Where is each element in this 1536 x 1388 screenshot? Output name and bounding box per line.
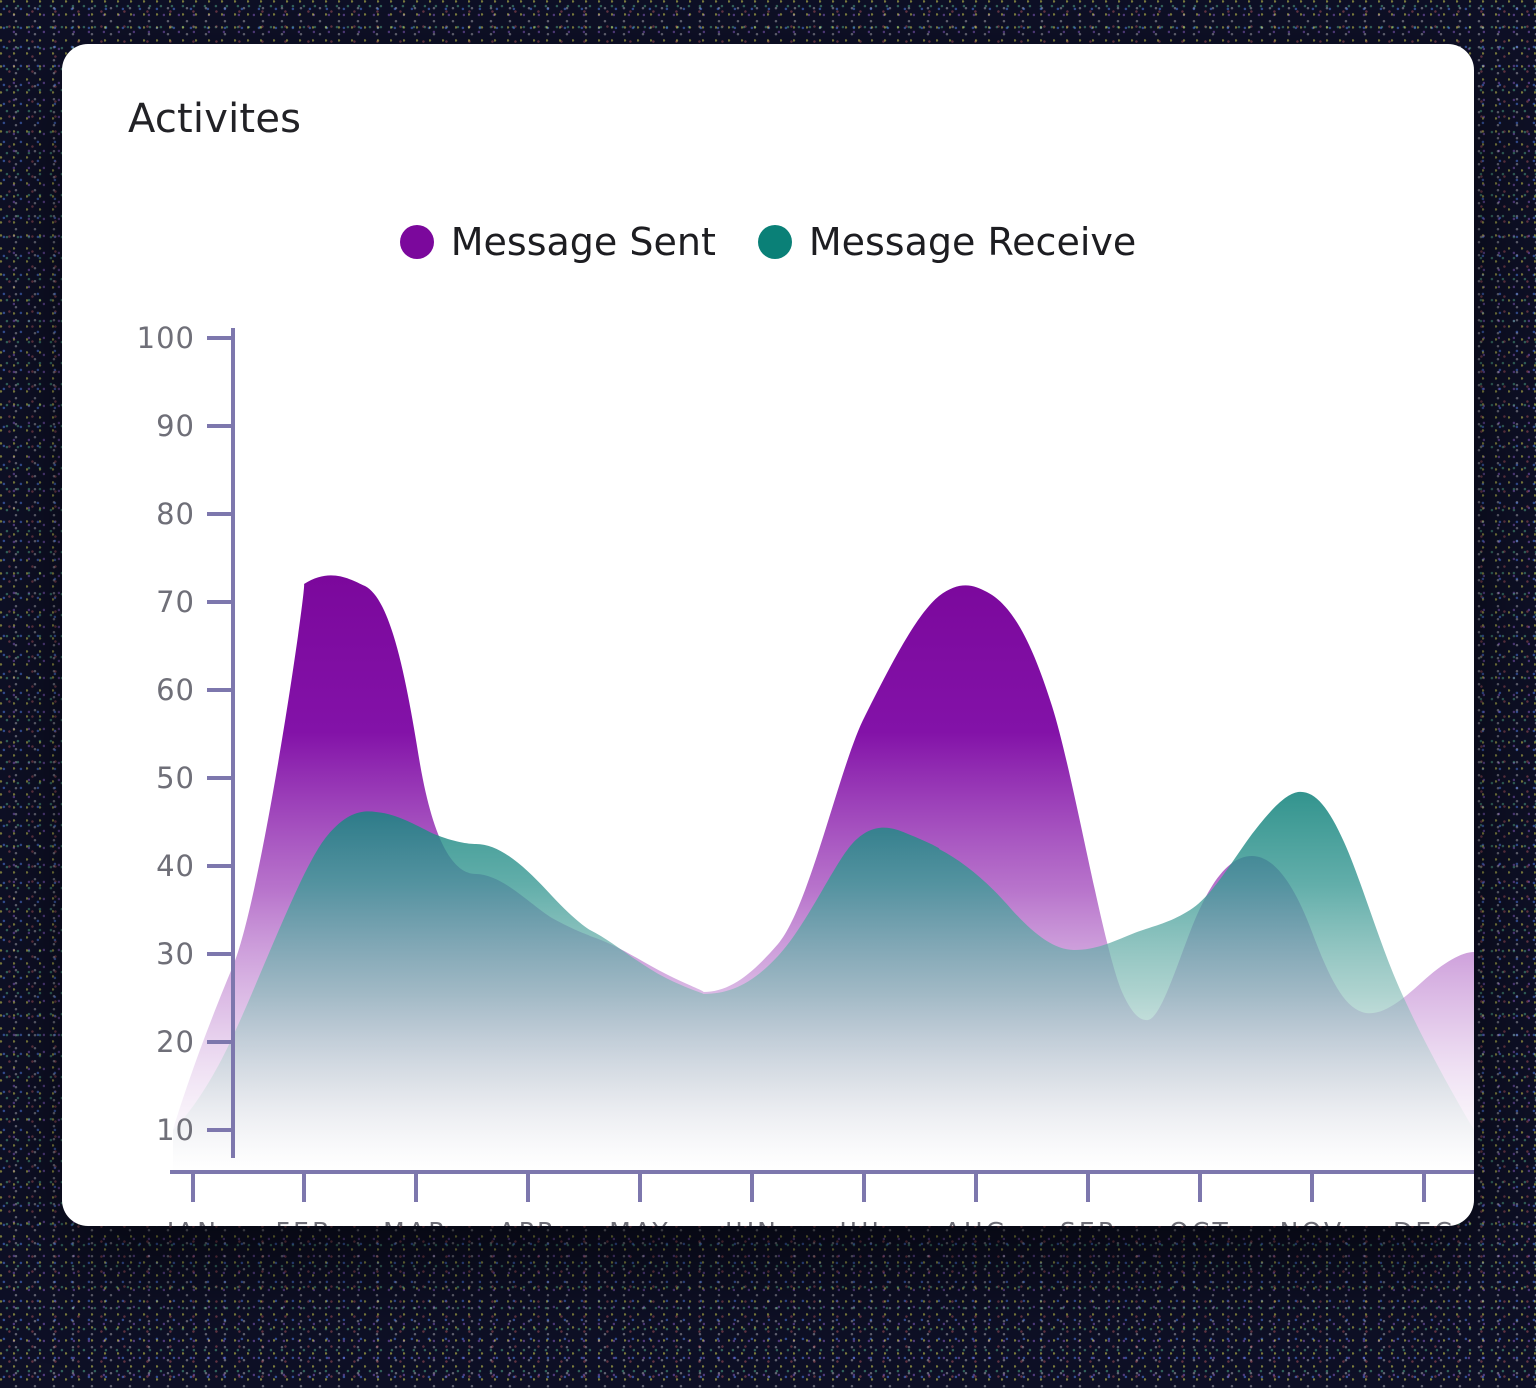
y-tick-label: 40 — [156, 849, 195, 883]
x-tick-label: DEC — [1393, 1217, 1455, 1226]
x-tick-label: MAY — [609, 1217, 671, 1226]
y-tick-label: 50 — [156, 761, 195, 795]
x-tick-label: AUG — [944, 1217, 1008, 1226]
x-tick-label: MAR — [383, 1217, 449, 1226]
y-tick-label: 80 — [156, 497, 195, 531]
activities-chart-card: Activites Message Sent Message Receive — [62, 44, 1474, 1226]
y-tick-label: 30 — [156, 937, 195, 971]
y-tick-label: 90 — [156, 409, 195, 443]
chart-areas — [173, 575, 1474, 1179]
x-tick-label: SEP — [1060, 1217, 1116, 1226]
x-tick-label: OCT — [1169, 1217, 1231, 1226]
y-tick-label: 70 — [156, 585, 195, 619]
y-tick-label: 60 — [156, 673, 195, 707]
y-tick-label: 10 — [156, 1113, 195, 1147]
x-tick-label: JUL — [837, 1217, 888, 1226]
x-axis-tick-labels: JAN FEB MAR APR MAY JUN JUL AUG SEP OCT … — [165, 1217, 1455, 1226]
x-tick-label: JAN — [165, 1217, 219, 1226]
x-tick-label: FEB — [276, 1217, 333, 1226]
y-tick-label: 20 — [156, 1025, 195, 1059]
x-tick-label: NOV — [1280, 1217, 1345, 1226]
x-tick-label: APR — [498, 1217, 557, 1226]
x-tick-label: JUN — [723, 1217, 779, 1226]
area-chart-plot: 100 90 80 70 60 50 40 30 20 10 — [62, 44, 1474, 1226]
y-tick-label: 100 — [137, 321, 195, 355]
y-axis-tick-labels: 100 90 80 70 60 50 40 30 20 10 — [137, 321, 195, 1147]
